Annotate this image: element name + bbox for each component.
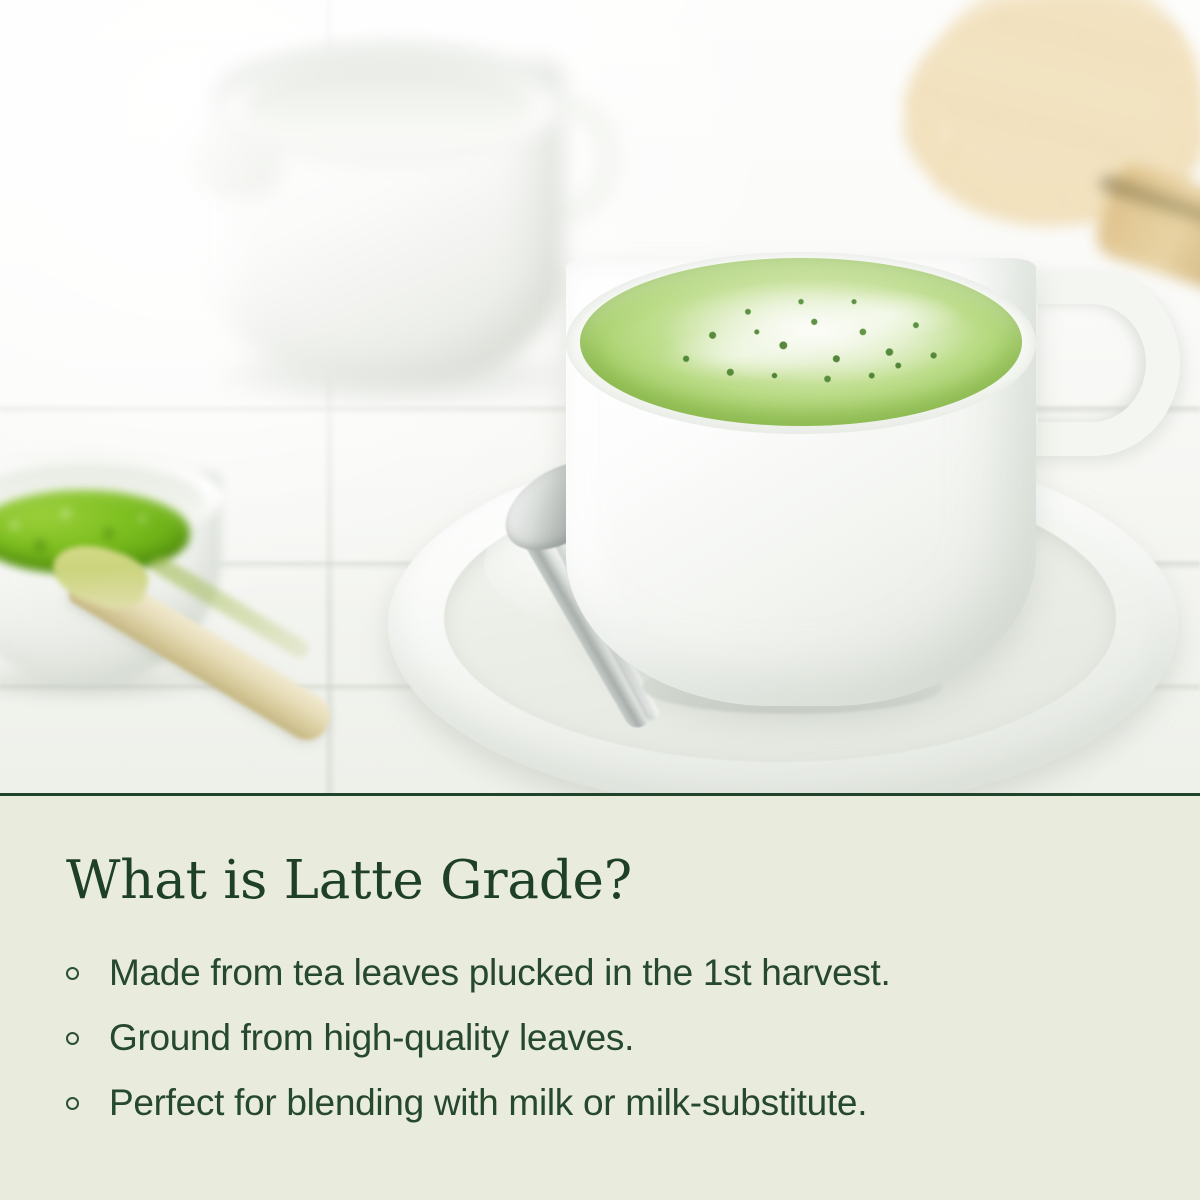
milk-pitcher	[178, 18, 618, 418]
list-item-label: Made from tea leaves plucked in the 1st …	[109, 953, 891, 992]
list-item: Ground from high-quality leaves.	[66, 1018, 1140, 1057]
feature-list: Made from tea leaves plucked in the 1st …	[66, 953, 1140, 1123]
list-item: Made from tea leaves plucked in the 1st …	[66, 953, 1140, 992]
list-item-label: Perfect for blending with milk or milk-s…	[109, 1083, 867, 1122]
bullet-circle-icon	[66, 1032, 79, 1045]
list-item-label: Ground from high-quality leaves.	[109, 1018, 634, 1057]
page-title: What is Latte Grade?	[66, 854, 1140, 907]
product-photo	[0, 0, 1200, 794]
matcha-latte-surface	[580, 258, 1022, 426]
infographic-page: What is Latte Grade? Made from tea leave…	[0, 0, 1200, 1200]
bullet-circle-icon	[66, 1097, 79, 1110]
milk-pitcher-interior	[244, 62, 534, 148]
list-item: Perfect for blending with milk or milk-s…	[66, 1083, 1140, 1122]
bullet-circle-icon	[66, 967, 79, 980]
info-panel: What is Latte Grade? Made from tea leave…	[0, 796, 1200, 1200]
matcha-surface-edge-shading	[580, 258, 1022, 426]
